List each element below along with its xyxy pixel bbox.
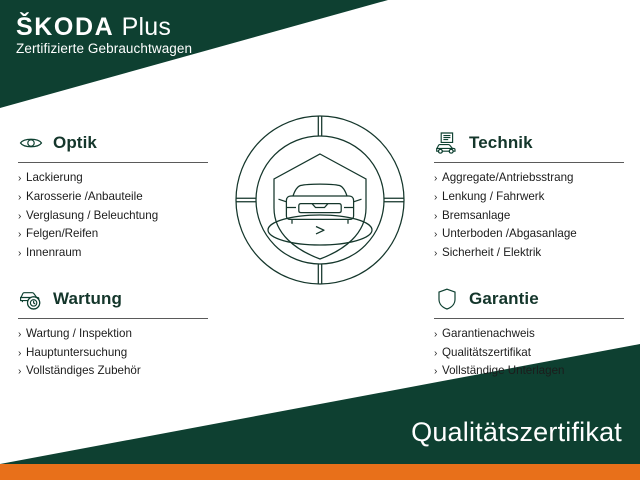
section-optik-title: Optik: [53, 133, 97, 153]
certificate-page: ŠKODA Plus Zertifizierte Gebrauchtwagen …: [0, 0, 640, 480]
chevron-icon: ›: [434, 227, 442, 243]
chevron-icon: ›: [434, 364, 442, 380]
section-garantie-header: Garantie: [434, 284, 630, 314]
chevron-icon: ›: [434, 190, 442, 206]
list-item-label: Lackierung: [26, 169, 83, 188]
section-garantie-divider: [434, 318, 624, 319]
list-item-label: Aggregate/Antriebsstrang: [442, 169, 573, 188]
section-technik-divider: [434, 162, 624, 163]
list-item-label: Felgen/Reifen: [26, 225, 98, 244]
brand-logo-line1: ŠKODA Plus: [16, 14, 192, 40]
section-technik-header: Technik: [434, 128, 630, 158]
chevron-icon: ›: [18, 209, 26, 225]
list-item: ›Verglasung / Beleuchtung: [18, 207, 214, 226]
list-item-label: Bremsanlage: [442, 207, 510, 226]
footer-title: Qualitätszertifikat: [411, 417, 622, 448]
list-item: ›Wartung / Inspektion: [18, 325, 214, 344]
chevron-icon: ›: [18, 364, 26, 380]
chevron-icon: ›: [18, 171, 26, 187]
list-item-label: Vollständige Unterlagen: [442, 362, 564, 381]
section-wartung-header: Wartung: [18, 284, 214, 314]
list-item-label: Sicherheit / Elektrik: [442, 244, 541, 263]
chevron-icon: ›: [18, 246, 26, 262]
chevron-icon: ›: [434, 327, 442, 343]
list-item-label: Verglasung / Beleuchtung: [26, 207, 158, 226]
list-item-label: Garantienachweis: [442, 325, 535, 344]
right-column: Technik ›Aggregate/Antriebsstrang ›Lenku…: [434, 128, 630, 381]
list-item-label: Karosserie /Anbauteile: [26, 188, 143, 207]
list-item-label: Unterboden /Abgasanlage: [442, 225, 577, 244]
chevron-icon: ›: [18, 227, 26, 243]
orange-accent-bar: [0, 464, 640, 480]
list-item: ›Felgen/Reifen: [18, 225, 214, 244]
brand-tagline: Zertifizierte Gebrauchtwagen: [16, 41, 192, 56]
list-item: ›Aggregate/Antriebsstrang: [434, 169, 630, 188]
list-item-label: Hauptuntersuchung: [26, 344, 127, 363]
list-item: ›Lackierung: [18, 169, 214, 188]
chevron-icon: ›: [434, 171, 442, 187]
chevron-icon: ›: [434, 346, 442, 362]
car-shield-certified-icon: [232, 112, 408, 288]
list-item-label: Qualitätszertifikat: [442, 344, 531, 363]
emblem-shield: [274, 154, 366, 259]
chevron-icon: ›: [434, 209, 442, 225]
list-item-label: Wartung / Inspektion: [26, 325, 132, 344]
brand-logo: ŠKODA Plus Zertifizierte Gebrauchtwagen: [16, 14, 192, 56]
section-technik-title: Technik: [469, 133, 533, 153]
chevron-icon: ›: [434, 246, 442, 262]
section-wartung-items: ›Wartung / Inspektion ›Hauptuntersuchung…: [18, 325, 214, 381]
chevron-icon: ›: [18, 327, 26, 343]
section-garantie: Garantie ›Garantienachweis ›Qualitätszer…: [434, 284, 630, 381]
list-item-label: Innenraum: [26, 244, 81, 263]
section-garantie-items: ›Garantienachweis ›Qualitätszertifikat ›…: [434, 325, 630, 381]
list-item: ›Hauptuntersuchung: [18, 344, 214, 363]
list-item: ›Vollständiges Zubehör: [18, 362, 214, 381]
chevron-icon: ›: [18, 346, 26, 362]
car-service-icon: [18, 286, 44, 312]
brand-suffix: Plus: [122, 13, 171, 41]
section-wartung-divider: [18, 318, 208, 319]
list-item: ›Karosserie /Anbauteile: [18, 188, 214, 207]
section-optik: Optik ›Lackierung ›Karosserie /Anbauteil…: [18, 128, 214, 263]
section-optik-items: ›Lackierung ›Karosserie /Anbauteile ›Ver…: [18, 169, 214, 263]
emblem-orbit-arrow: [316, 227, 324, 234]
section-optik-header: Optik: [18, 128, 214, 158]
list-item: ›Lenkung / Fahrwerk: [434, 188, 630, 207]
list-item: ›Innenraum: [18, 244, 214, 263]
brand-mark: ŠKODA: [16, 13, 114, 41]
left-column: Optik ›Lackierung ›Karosserie /Anbauteil…: [18, 128, 214, 381]
section-garantie-title: Garantie: [469, 289, 539, 309]
car-document-icon: [434, 130, 460, 156]
list-item-label: Lenkung / Fahrwerk: [442, 188, 544, 207]
eye-icon: [18, 130, 44, 156]
list-item: ›Vollständige Unterlagen: [434, 362, 630, 381]
shield-icon: [434, 286, 460, 312]
list-item-label: Vollständiges Zubehör: [26, 362, 141, 381]
list-item: ›Garantienachweis: [434, 325, 630, 344]
section-optik-divider: [18, 162, 208, 163]
list-item: ›Sicherheit / Elektrik: [434, 244, 630, 263]
list-item: ›Bremsanlage: [434, 207, 630, 226]
list-item: ›Unterboden /Abgasanlage: [434, 225, 630, 244]
chevron-icon: ›: [18, 190, 26, 206]
section-wartung: Wartung ›Wartung / Inspektion ›Hauptunte…: [18, 284, 214, 381]
section-technik: Technik ›Aggregate/Antriebsstrang ›Lenku…: [434, 128, 630, 263]
section-technik-items: ›Aggregate/Antriebsstrang ›Lenkung / Fah…: [434, 169, 630, 263]
list-item: ›Qualitätszertifikat: [434, 344, 630, 363]
section-wartung-title: Wartung: [53, 289, 122, 309]
